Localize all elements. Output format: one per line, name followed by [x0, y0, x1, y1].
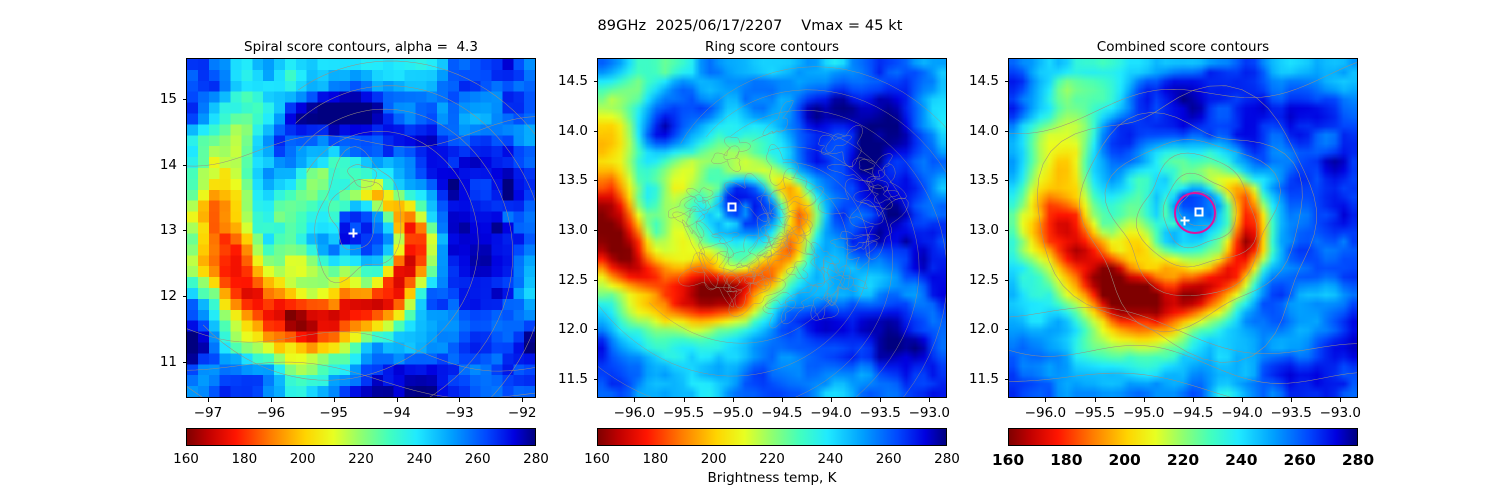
ytick-mark [1005, 81, 1009, 82]
colorbar-tick-combined-6: 280 [1342, 451, 1374, 469]
xtick-mark [1340, 398, 1341, 402]
xtick-mark [831, 398, 832, 402]
ytick-mark [594, 180, 598, 181]
ytick-label-ring-2: 13.5 [558, 172, 588, 188]
ytick-mark [1005, 180, 1009, 181]
storm-center-plus [1180, 216, 1189, 225]
colorbar-tick-ring-1: 180 [642, 451, 668, 467]
brightness-temp-image-spiral [187, 59, 535, 397]
xtick-mark [522, 398, 523, 402]
xtick-mark [733, 398, 734, 402]
colorbar-tick-ring-0: 160 [584, 451, 610, 467]
colorbar-tick-ring-2: 200 [701, 451, 727, 467]
ytick-mark [183, 362, 187, 363]
xtick-mark [634, 398, 635, 402]
panel-combined: Combined score contours14.514.013.513.01… [1008, 58, 1358, 398]
ytick-mark [183, 230, 187, 231]
colorbar-tick-combined-4: 240 [1225, 451, 1257, 469]
colorbar-tick-ring-5: 260 [876, 451, 902, 467]
ytick-mark [594, 131, 598, 132]
colorbar-tick-combined-5: 260 [1283, 451, 1315, 469]
xtick-label-ring-6: −93.0 [909, 405, 950, 421]
xtick-label-combined-6: −93.0 [1320, 405, 1361, 421]
ytick-mark [594, 81, 598, 82]
xtick-mark [1095, 398, 1096, 402]
fix-center-square [1194, 207, 1203, 216]
xtick-mark [1193, 398, 1194, 402]
xtick-mark [1291, 398, 1292, 402]
ytick-mark [594, 379, 598, 380]
xtick-mark [1045, 398, 1046, 402]
xtick-label-combined-1: −95.5 [1074, 405, 1115, 421]
ring-center-square [727, 202, 736, 211]
xtick-label-combined-2: −95.0 [1123, 405, 1164, 421]
ytick-mark [1005, 230, 1009, 231]
xtick-label-combined-3: −94.5 [1172, 405, 1213, 421]
plot-area-combined[interactable] [1008, 58, 1358, 398]
ytick-label-combined-6: 11.5 [969, 371, 999, 387]
colorbar-tick-ring-4: 240 [817, 451, 843, 467]
colorbar-tick-combined-2: 200 [1108, 451, 1140, 469]
xtick-mark [271, 398, 272, 402]
ytick-label-combined-1: 14.0 [969, 123, 999, 139]
ytick-label-ring-4: 12.5 [558, 272, 588, 288]
ytick-mark [183, 165, 187, 166]
ytick-label-ring-0: 14.5 [558, 73, 588, 89]
xtick-mark [208, 398, 209, 402]
ytick-label-ring-6: 11.5 [558, 371, 588, 387]
ytick-mark [1005, 329, 1009, 330]
panel-title-combined: Combined score contours [1008, 39, 1358, 55]
brightness-temp-image-ring [598, 59, 946, 397]
plot-area-ring[interactable] [597, 58, 947, 398]
ytick-label-combined-4: 12.5 [969, 272, 999, 288]
xtick-mark [684, 398, 685, 402]
colorbar-gradient [186, 428, 536, 446]
ytick-label-spiral-3: 12 [160, 288, 177, 304]
panel-ring: Ring score contours14.514.013.513.012.51… [597, 58, 947, 398]
ytick-mark [1005, 280, 1009, 281]
colorbar-tick-spiral-0: 160 [173, 451, 199, 467]
colorbar-tick-combined-3: 220 [1167, 451, 1199, 469]
ytick-label-ring-5: 12.0 [558, 321, 588, 337]
ytick-label-spiral-4: 11 [160, 354, 177, 370]
xtick-label-combined-5: −93.5 [1270, 405, 1311, 421]
colorbar-spiral: 160180200220240260280 [186, 428, 536, 446]
colorbar-tick-spiral-5: 260 [465, 451, 491, 467]
ytick-label-combined-3: 13.0 [969, 222, 999, 238]
panel-title-ring: Ring score contours [597, 39, 947, 55]
xtick-label-spiral-1: −96 [257, 405, 286, 421]
ytick-label-spiral-0: 15 [160, 91, 177, 107]
xtick-mark [334, 398, 335, 402]
xtick-mark [880, 398, 881, 402]
colorbar-tick-combined-0: 160 [992, 451, 1024, 469]
xtick-label-spiral-4: −93 [445, 405, 474, 421]
xtick-mark [929, 398, 930, 402]
ytick-mark [183, 296, 187, 297]
xtick-label-combined-4: −94.0 [1221, 405, 1262, 421]
xtick-label-combined-0: −96.0 [1025, 405, 1066, 421]
colorbar-tick-combined-1: 180 [1050, 451, 1082, 469]
colorbar-tick-ring-6: 280 [934, 451, 960, 467]
ytick-mark [594, 280, 598, 281]
ytick-label-combined-5: 12.0 [969, 321, 999, 337]
colorbar-axis-label: Brightness temp, K [597, 470, 947, 486]
xtick-label-ring-0: −96.0 [614, 405, 655, 421]
ytick-label-spiral-2: 13 [160, 222, 177, 238]
xtick-label-spiral-0: −97 [194, 405, 223, 421]
colorbar-tick-spiral-4: 240 [406, 451, 432, 467]
figure-suptitle: 89GHz 2025/06/17/2207 Vmax = 45 kt [0, 18, 1500, 34]
ytick-mark [594, 329, 598, 330]
xtick-mark [1144, 398, 1145, 402]
colorbar-tick-spiral-1: 180 [231, 451, 257, 467]
colorbar-combined: 160180200220240260280 [1008, 428, 1358, 446]
storm-center-plus [349, 229, 358, 238]
colorbar-tick-spiral-3: 220 [348, 451, 374, 467]
ytick-label-ring-3: 13.0 [558, 222, 588, 238]
xtick-label-ring-4: −94.0 [810, 405, 851, 421]
panel-spiral: Spiral score contours, alpha = 4.3151413… [186, 58, 536, 398]
ytick-label-ring-1: 14.0 [558, 123, 588, 139]
xtick-label-spiral-2: −95 [319, 405, 348, 421]
xtick-label-ring-2: −95.0 [712, 405, 753, 421]
xtick-mark [782, 398, 783, 402]
ytick-mark [183, 99, 187, 100]
xtick-label-spiral-3: −94 [382, 405, 411, 421]
ytick-mark [594, 230, 598, 231]
ytick-mark [1005, 379, 1009, 380]
plot-area-spiral[interactable] [186, 58, 536, 398]
colorbar-tick-spiral-6: 280 [523, 451, 549, 467]
colorbar-ring: 160180200220240260280 [597, 428, 947, 446]
colorbar-tick-spiral-2: 200 [290, 451, 316, 467]
ytick-label-combined-0: 14.5 [969, 73, 999, 89]
panel-title-spiral: Spiral score contours, alpha = 4.3 [186, 39, 536, 55]
ytick-label-combined-2: 13.5 [969, 172, 999, 188]
xtick-mark [397, 398, 398, 402]
colorbar-tick-ring-3: 220 [759, 451, 785, 467]
xtick-mark [1242, 398, 1243, 402]
xtick-label-ring-5: −93.5 [859, 405, 900, 421]
xtick-label-spiral-5: −92 [508, 405, 537, 421]
ytick-label-spiral-1: 14 [160, 157, 177, 173]
ytick-mark [1005, 131, 1009, 132]
figure-canvas: 89GHz 2025/06/17/2207 Vmax = 45 kt Brigh… [0, 0, 1500, 500]
colorbar-gradient [597, 428, 947, 446]
xtick-mark [459, 398, 460, 402]
colorbar-gradient [1008, 428, 1358, 446]
xtick-label-ring-3: −94.5 [761, 405, 802, 421]
xtick-label-ring-1: −95.5 [663, 405, 704, 421]
